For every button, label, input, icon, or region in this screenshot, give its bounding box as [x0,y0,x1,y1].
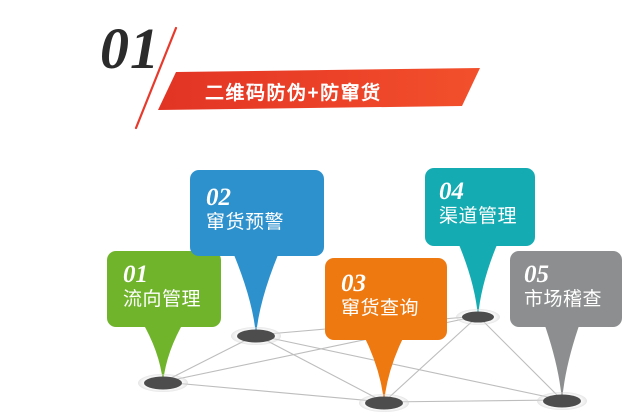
slide-canvas: 01 二维码防伪+防窜货 [0,0,643,417]
pin-number-02: 02 [206,184,310,211]
pin-tail-05 [543,320,581,401]
pin-tail-01 [141,320,185,383]
pin-label-02: 窜货预警 [206,211,310,235]
pin-label-01: 流向管理 [123,288,207,312]
pin-card-02[interactable]: 02 窜货预警 [190,170,324,256]
pin-tail-04 [457,240,499,317]
pin-number-05: 05 [524,261,608,288]
pin-label-05: 市场稽查 [524,288,608,312]
pin-card-03[interactable]: 03 窜货查询 [325,258,447,340]
pin-tail-02 [232,250,280,336]
pin-number-01: 01 [123,261,207,288]
pin-card-04[interactable]: 04 渠道管理 [425,168,535,246]
pin-label-04: 渠道管理 [439,205,521,229]
pin-number-03: 03 [341,270,433,297]
pin-number-04: 04 [439,178,521,205]
pin-card-05[interactable]: 05 市场稽查 [510,251,622,327]
pin-label-03: 窜货查询 [341,297,433,321]
pin-card-01[interactable]: 01 流向管理 [107,251,221,327]
pin-tail-03 [363,334,405,403]
